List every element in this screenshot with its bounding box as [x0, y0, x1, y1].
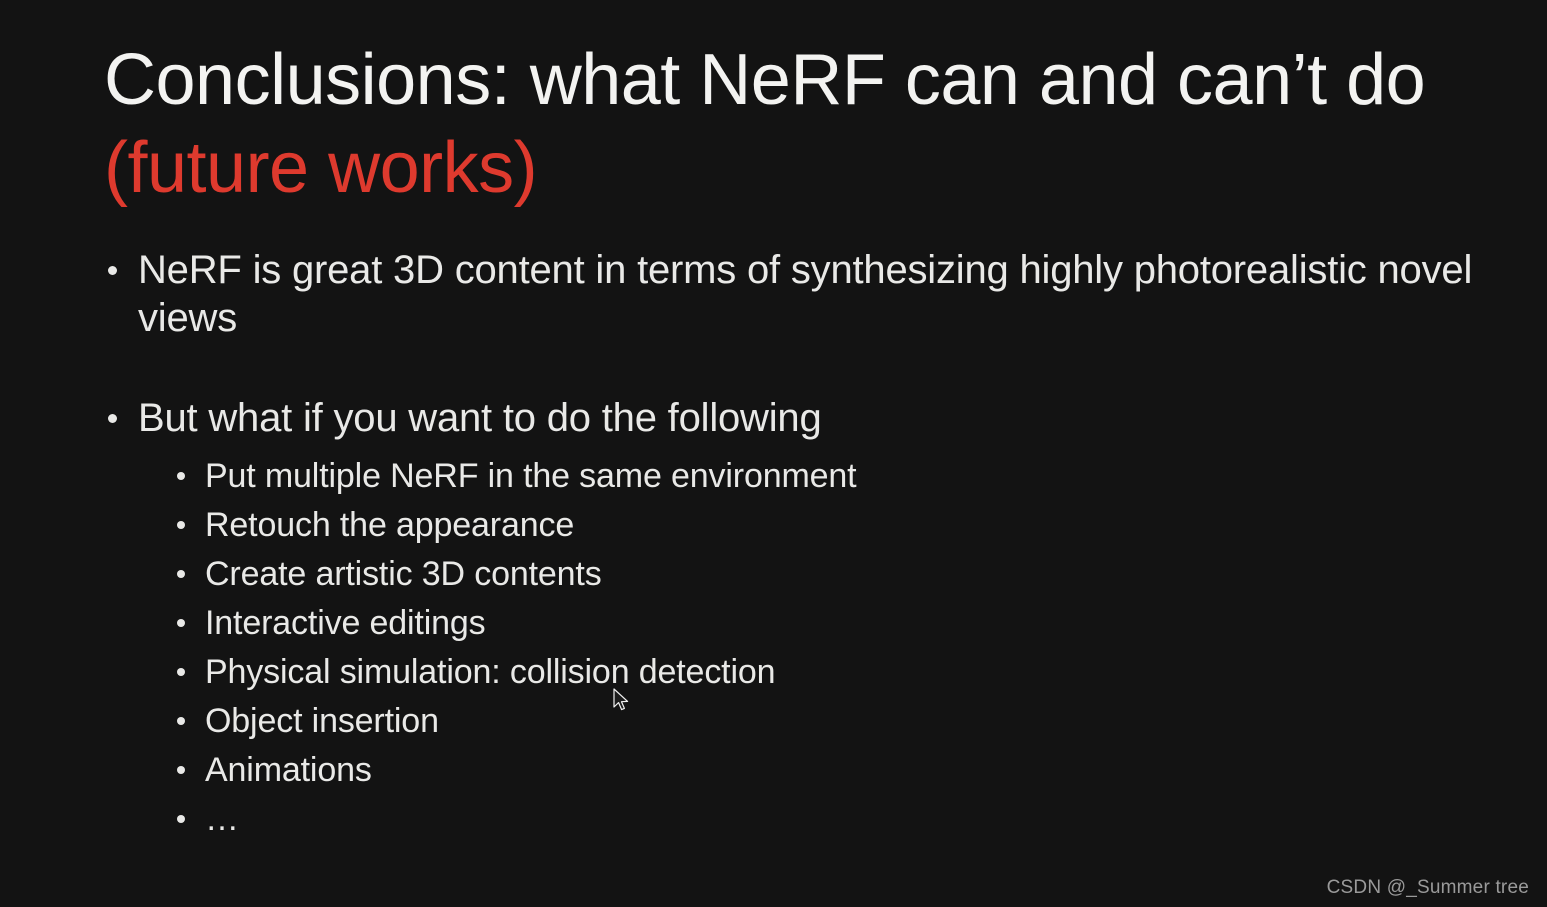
bullet-level2-text: Interactive editings [205, 604, 486, 642]
bullet-spacer [0, 342, 1547, 394]
bullet-level2: … [0, 795, 1547, 844]
bullet-dot-icon [177, 619, 185, 627]
bullet-dot-icon [177, 766, 185, 774]
bullet-dot-icon [177, 570, 185, 578]
bullet-dot-icon [177, 521, 185, 529]
bullet-level2-text: Animations [205, 751, 372, 789]
bullet-level2-text: Create artistic 3D contents [205, 555, 602, 593]
bullet-level1: NeRF is great 3D content in terms of syn… [0, 246, 1547, 342]
watermark-label: CSDN @_Summer tree [1327, 877, 1529, 899]
bullet-level1: But what if you want to do the following [0, 394, 1547, 442]
bullet-level2: Retouch the appearance [0, 501, 1547, 550]
bullet-level2-text: Put multiple NeRF in the same environmen… [205, 457, 856, 495]
bullet-level1-text: But what if you want to do the following [138, 394, 1547, 442]
bullet-level2: Animations [0, 746, 1547, 795]
bullet-level2: Interactive editings [0, 599, 1547, 648]
bullet-level2-text: Physical simulation: collision detection [205, 653, 775, 691]
bullet-dot-icon [177, 815, 185, 823]
presentation-slide: Conclusions: what NeRF can and can’t do … [0, 0, 1547, 907]
bullet-level2: Create artistic 3D contents [0, 550, 1547, 599]
title-line-primary: Conclusions: what NeRF can and can’t do [104, 36, 1504, 124]
slide-body: NeRF is great 3D content in terms of syn… [0, 246, 1547, 844]
bullet-level2-text: … [205, 800, 239, 838]
bullet-dot-icon [177, 472, 185, 480]
sub-bullet-list: Put multiple NeRF in the same environmen… [0, 452, 1547, 844]
bullet-dot-icon [108, 266, 117, 275]
slide-title: Conclusions: what NeRF can and can’t do … [104, 36, 1504, 212]
bullet-level2: Put multiple NeRF in the same environmen… [0, 452, 1547, 501]
bullet-dot-icon [177, 668, 185, 676]
title-line-accent: (future works) [104, 124, 1504, 212]
bullet-level2: Object insertion [0, 697, 1547, 746]
bullet-level2-text: Object insertion [205, 702, 439, 740]
bullet-level2: Physical simulation: collision detection [0, 648, 1547, 697]
bullet-level1-text: NeRF is great 3D content in terms of syn… [138, 246, 1547, 342]
bullet-level2-text: Retouch the appearance [205, 506, 574, 544]
bullet-dot-icon [177, 717, 185, 725]
bullet-spacer [0, 442, 1547, 452]
bullet-dot-icon [108, 414, 117, 423]
